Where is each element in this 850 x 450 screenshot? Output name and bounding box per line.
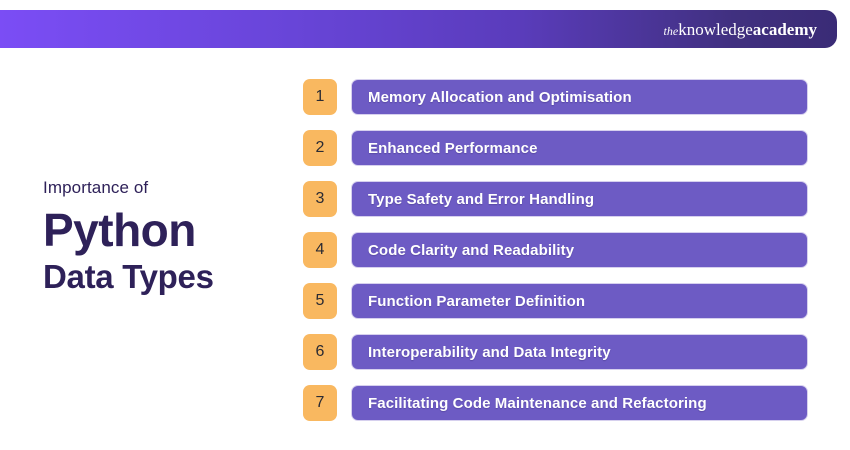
list-item-bar: Type Safety and Error Handling [351, 181, 808, 217]
list-item: 7 Facilitating Code Maintenance and Refa… [303, 385, 808, 421]
list-item-bar: Facilitating Code Maintenance and Refact… [351, 385, 808, 421]
title-block: Importance of Python Data Types [43, 178, 283, 295]
list-item-label: Memory Allocation and Optimisation [368, 90, 632, 105]
list-item-bar: Function Parameter Definition [351, 283, 808, 319]
brand-logo-the: the [664, 24, 679, 38]
list-item-number-badge: 3 [303, 181, 337, 217]
list-item: 1 Memory Allocation and Optimisation [303, 79, 808, 115]
list-item: 3 Type Safety and Error Handling [303, 181, 808, 217]
list-item-number-badge: 2 [303, 130, 337, 166]
list-item: 6 Interoperability and Data Integrity [303, 334, 808, 370]
list-item-bar: Enhanced Performance [351, 130, 808, 166]
list-item-number-badge: 1 [303, 79, 337, 115]
list-item-number-badge: 7 [303, 385, 337, 421]
brand-logo-academy: academy [753, 20, 817, 39]
brand-logo: theknowledgeacademy [664, 21, 817, 38]
list-item-bar: Code Clarity and Readability [351, 232, 808, 268]
brand-logo-knowledge: knowledge [678, 20, 753, 39]
title-eyebrow: Importance of [43, 178, 283, 198]
page-subtitle: Data Types [43, 259, 283, 295]
list-item-number-badge: 6 [303, 334, 337, 370]
list-item-number-badge: 4 [303, 232, 337, 268]
list-item-label: Facilitating Code Maintenance and Refact… [368, 396, 707, 411]
list-item-bar: Memory Allocation and Optimisation [351, 79, 808, 115]
list-item-label: Enhanced Performance [368, 141, 538, 156]
header-bar: theknowledgeacademy [0, 10, 837, 48]
list-item-label: Function Parameter Definition [368, 294, 585, 309]
list-item-label: Type Safety and Error Handling [368, 192, 594, 207]
list-item: 5 Function Parameter Definition [303, 283, 808, 319]
list-item: 2 Enhanced Performance [303, 130, 808, 166]
page-title: Python [43, 206, 283, 254]
list-item-number-badge: 5 [303, 283, 337, 319]
list-item-bar: Interoperability and Data Integrity [351, 334, 808, 370]
list-item-label: Code Clarity and Readability [368, 243, 574, 258]
list-item: 4 Code Clarity and Readability [303, 232, 808, 268]
numbered-list: 1 Memory Allocation and Optimisation 2 E… [303, 79, 808, 421]
list-item-label: Interoperability and Data Integrity [368, 345, 611, 360]
